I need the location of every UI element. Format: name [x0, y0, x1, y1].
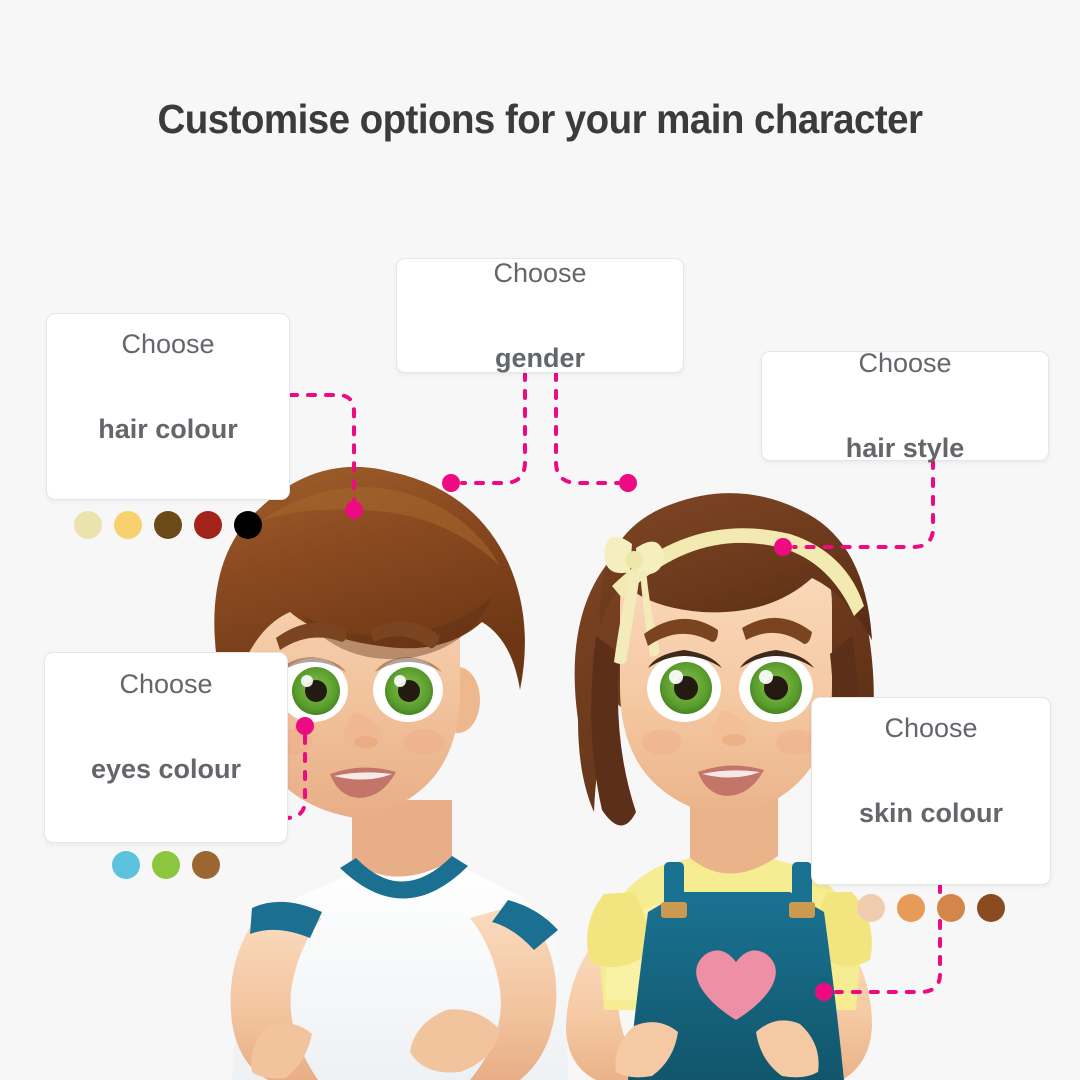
card-hair-style-line1: Choose	[846, 342, 965, 385]
swatch-blonde-golden[interactable]	[114, 511, 142, 539]
card-hair-style-line2: hair style	[846, 427, 965, 470]
swatch-tan[interactable]	[937, 894, 965, 922]
connector-dot-skin-colour	[815, 983, 833, 1001]
card-eyes-colour-label: Choose eyes colour	[91, 620, 241, 833]
card-skin-colour-label: Choose skin colour	[859, 664, 1003, 877]
card-hair-colour-line1: Choose	[98, 323, 238, 366]
card-skin-colour-line2: skin colour	[859, 792, 1003, 835]
hair-colour-swatches	[74, 511, 262, 539]
card-hair-style[interactable]: Choose hair style	[761, 351, 1049, 461]
swatch-medium[interactable]	[897, 894, 925, 922]
card-hair-colour[interactable]: Choose hair colour	[46, 313, 290, 500]
swatch-green[interactable]	[152, 851, 180, 879]
swatch-dark[interactable]	[977, 894, 1005, 922]
card-hair-colour-label: Choose hair colour	[98, 280, 238, 493]
swatch-blue[interactable]	[112, 851, 140, 879]
card-hair-colour-line2: hair colour	[98, 408, 238, 451]
connector-hair-colour	[290, 395, 354, 504]
swatch-black[interactable]	[234, 511, 262, 539]
card-gender-line1: Choose	[493, 252, 586, 295]
connector-dot-eyes-colour	[296, 717, 314, 735]
swatch-red[interactable]	[194, 511, 222, 539]
swatch-brown[interactable]	[192, 851, 220, 879]
connector-dot-gender-right	[619, 474, 637, 492]
card-eyes-colour-line1: Choose	[91, 663, 241, 706]
card-hair-style-label: Choose hair style	[846, 299, 965, 512]
skin-colour-swatches	[857, 894, 1005, 922]
customisation-screen: Customise options for your main characte…	[0, 0, 1080, 1080]
card-gender-label: Choose gender	[493, 209, 586, 422]
connector-dot-hair-style	[774, 538, 792, 556]
eyes-colour-swatches	[112, 851, 220, 879]
card-gender[interactable]: Choose gender	[396, 258, 684, 373]
swatch-light[interactable]	[857, 894, 885, 922]
card-skin-colour[interactable]: Choose skin colour	[811, 697, 1051, 885]
card-eyes-colour[interactable]: Choose eyes colour	[44, 652, 288, 843]
connector-dot-gender-left	[442, 474, 460, 492]
swatch-brown[interactable]	[154, 511, 182, 539]
card-gender-line2: gender	[493, 337, 586, 380]
swatch-blonde-pale[interactable]	[74, 511, 102, 539]
card-skin-colour-line1: Choose	[859, 707, 1003, 750]
card-eyes-colour-line2: eyes colour	[91, 748, 241, 791]
connector-dot-hair-colour	[345, 501, 363, 519]
